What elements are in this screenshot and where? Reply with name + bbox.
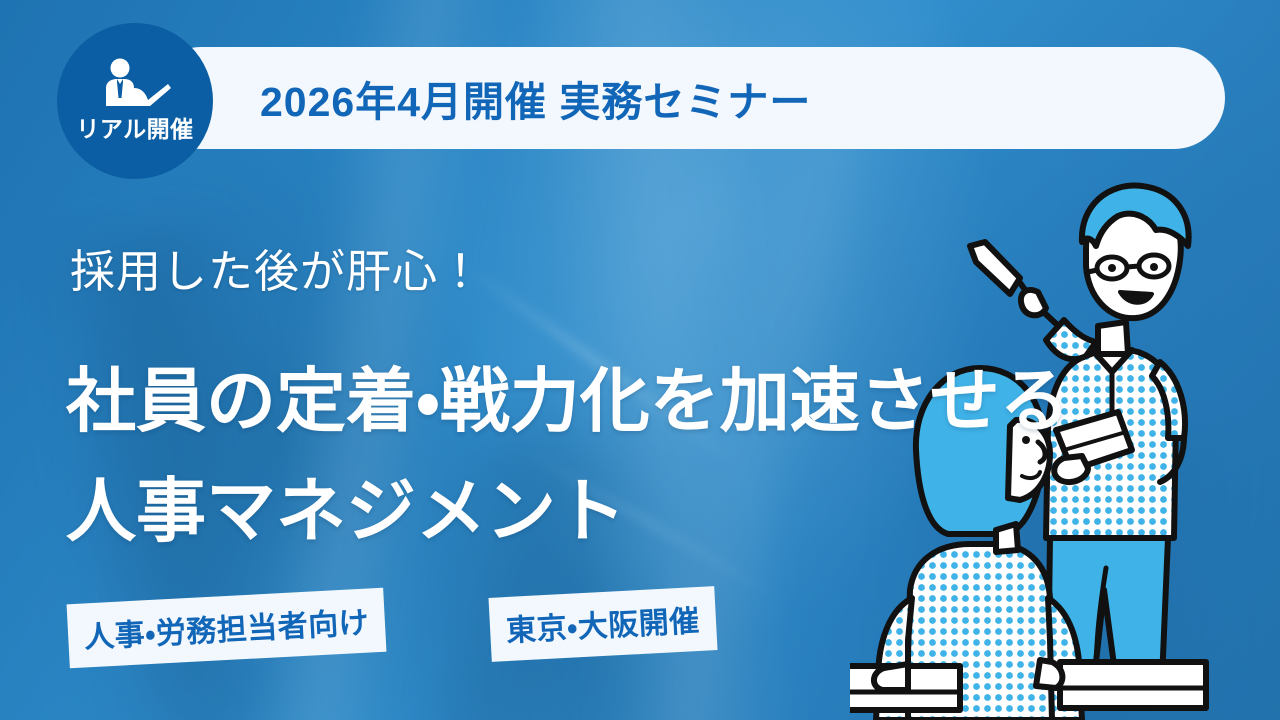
instructor-neck (1098, 322, 1128, 354)
instructor-eye (1108, 264, 1116, 272)
desk-right (1060, 662, 1206, 708)
header-title: 2026年4月開催 実務セミナー (260, 68, 811, 128)
pen-icon (970, 242, 1020, 294)
seminar-banner: 2026年4月開催 実務セミナー リアル開催 採用した後が肝心！ 社員の定着・戦… (0, 0, 1280, 720)
attendee-right-hand (1036, 660, 1062, 688)
lead-text: 採用した後が肝心！ (70, 235, 484, 300)
instructor-eye (1150, 263, 1158, 271)
attendee-neck (996, 524, 1018, 552)
attendee-left-hand (874, 664, 908, 690)
instructor-right-hand (1054, 456, 1088, 482)
presenter-icon (98, 58, 172, 108)
badge-label: リアル開催 (76, 110, 193, 144)
headline-line-2: 人事マネジメント (66, 455, 626, 556)
location-tag: 東京・大阪開催 (488, 586, 717, 662)
real-event-badge: リアル開催 (57, 23, 213, 179)
instructor-left-hand (1021, 290, 1046, 315)
headline-line-1: 社員の定着・戦力化を加速させる (66, 345, 1070, 446)
